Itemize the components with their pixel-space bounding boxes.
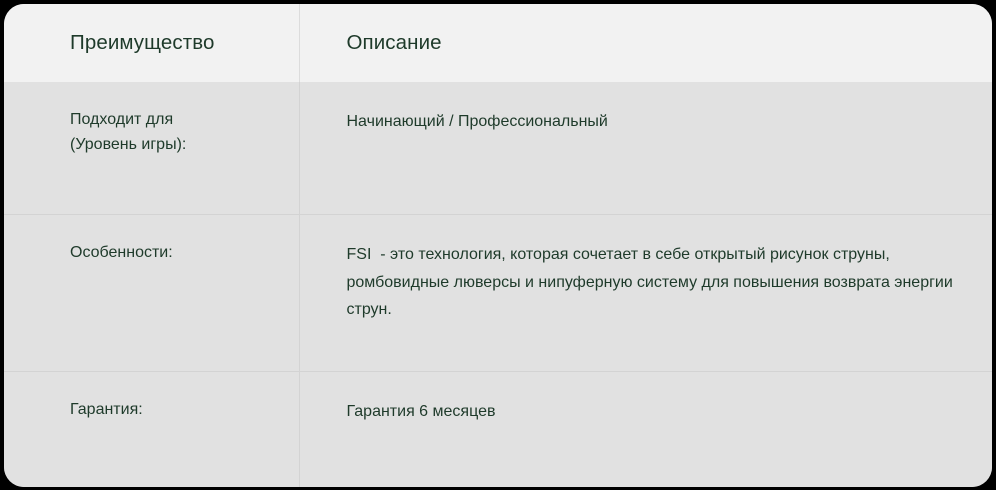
table-header: Преимущество Описание [4, 4, 992, 82]
cell-description: FSI - это технология, которая сочетает в… [299, 215, 992, 372]
table-row: Особенности:FSI - это технология, котора… [4, 215, 992, 372]
column-header-description: Описание [299, 4, 992, 82]
table-row: Подходит для (Уровень игры):Начинающий /… [4, 82, 992, 215]
specification-table: Преимущество Описание Подходит для (Уров… [4, 4, 992, 487]
cell-feature: Особенности: [4, 215, 299, 372]
cell-feature: Гарантия: [4, 372, 299, 488]
column-header-feature: Преимущество [4, 4, 299, 82]
cell-feature: Подходит для (Уровень игры): [4, 82, 299, 215]
table-body: Подходит для (Уровень игры):Начинающий /… [4, 82, 992, 487]
cell-description: Гарантия 6 месяцев [299, 372, 992, 488]
specification-card: Преимущество Описание Подходит для (Уров… [4, 4, 992, 487]
cell-description: Начинающий / Профессиональный [299, 82, 992, 215]
table-row: Гарантия:Гарантия 6 месяцев [4, 372, 992, 488]
table-header-row: Преимущество Описание [4, 4, 992, 82]
